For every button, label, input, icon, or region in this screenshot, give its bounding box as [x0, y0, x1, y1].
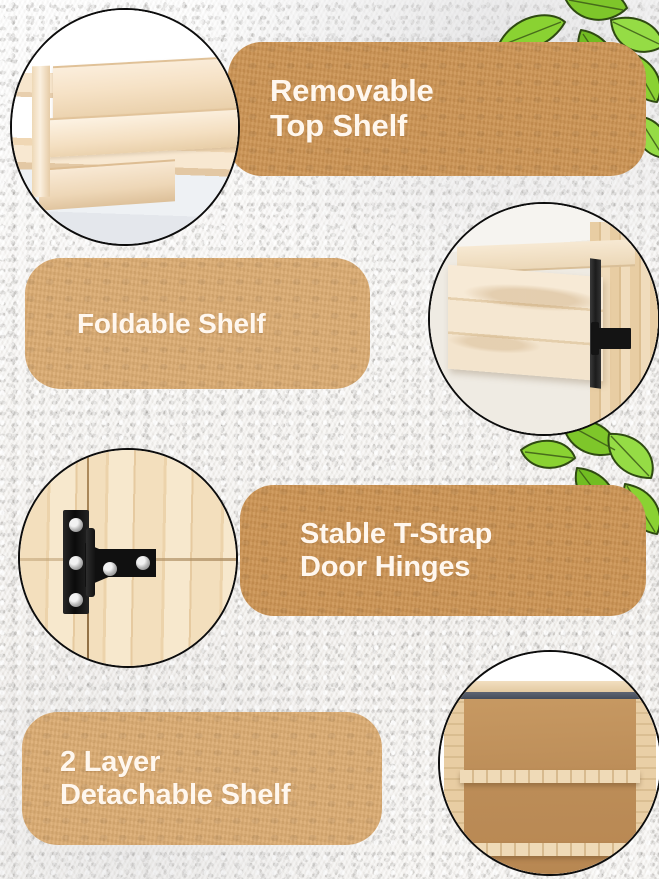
photo-3-screw: [136, 556, 150, 570]
photo-2-folding-panel: [448, 264, 603, 380]
infographic-canvas: Removable Top Shelf Foldable Shelf Stabl…: [0, 0, 659, 879]
photo-4-bottom-slat-shelf: [460, 843, 640, 856]
feature-band-t-strap-hinges: Stable T-Strap Door Hinges: [240, 485, 646, 616]
feature-band-2-layer-detachable-shelf: 2 Layer Detachable Shelf: [22, 712, 382, 845]
feature-photo-foldable-shelf: [428, 202, 659, 436]
feature-photo-t-strap-hinge: [18, 448, 238, 668]
feature-photo-2-layer-shelf: [438, 650, 659, 876]
feature-title-3: Stable T-Strap Door Hinges: [300, 518, 492, 583]
photo-3-screw: [69, 593, 83, 607]
photo-3-screw: [69, 556, 83, 570]
feature-band-removable-top-shelf: Removable Top Shelf: [228, 42, 646, 176]
feature-band-foldable-shelf: Foldable Shelf: [25, 258, 370, 389]
feature-photo-removable-top-shelf: [10, 8, 240, 246]
photo-4-dark-rail: [449, 692, 651, 699]
feature-title-2: Foldable Shelf: [77, 308, 266, 339]
photo-2-wood-grain: [448, 264, 603, 380]
feature-title-4: 2 Layer Detachable Shelf: [60, 746, 291, 811]
feature-title-1: Removable Top Shelf: [270, 74, 434, 143]
photo-1-side-post: [32, 66, 50, 198]
photo-3-hinge-pin: [86, 528, 95, 597]
photo-4-top-rail: [449, 681, 651, 692]
photo-2-hinge-pin: [591, 322, 599, 354]
photo-3-screw: [69, 518, 83, 532]
photo-2-hinge: [594, 328, 630, 349]
photo-4-middle-slat-shelf: [460, 770, 640, 783]
